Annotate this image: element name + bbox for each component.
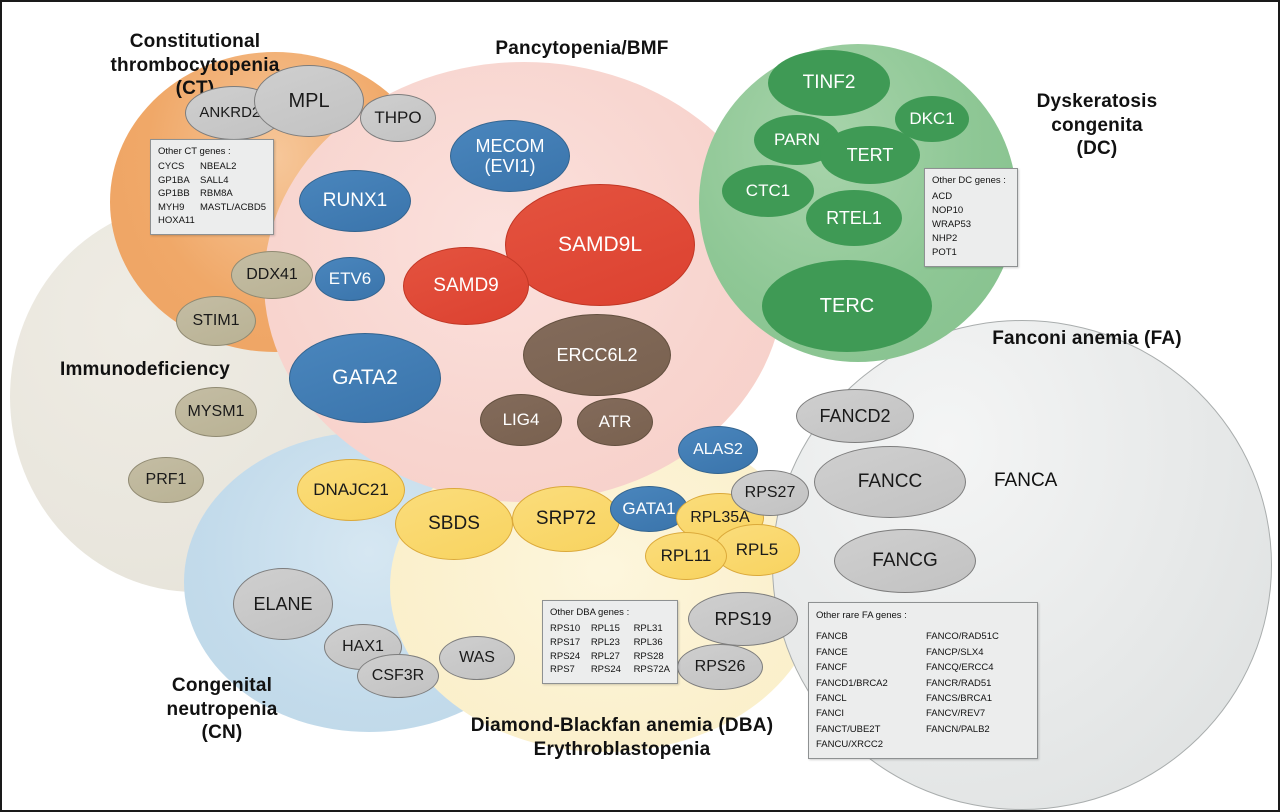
title-dba-line1: Diamond-Blackfan anemia (DBA) bbox=[422, 714, 822, 738]
genebox-ct: Other CT genes : CYCS GP1BA GP1BB MYH9 H… bbox=[150, 139, 274, 235]
genebox-fa-col-1: FANCO/RAD51C FANCP/SLX4 FANCQ/ERCC4 FANC… bbox=[926, 629, 999, 752]
gene-samd9[interactable]: SAMD9 bbox=[403, 247, 529, 325]
gene-prf1[interactable]: PRF1 bbox=[128, 457, 204, 503]
title-congenital-neutropenia: Congenital neutropenia (CN) bbox=[112, 674, 332, 745]
title-fanconi-anemia: Fanconi anemia (FA) bbox=[962, 327, 1212, 351]
genebox-ct-col-1: NBEAL2 SALL4 RBM8A MASTL/ACBD5 bbox=[200, 160, 266, 227]
title-dyskeratosis-congenita: Dyskeratosis congenita (DC) bbox=[1002, 90, 1192, 161]
gene-fancd2[interactable]: FANCD2 bbox=[796, 389, 914, 443]
genebox-ct-title: Other CT genes : bbox=[158, 145, 266, 158]
genebox-fa-col-0: FANCB FANCE FANCF FANCD1/BRCA2 FANCL FAN… bbox=[816, 629, 926, 752]
gene-mpl[interactable]: MPL bbox=[254, 65, 364, 137]
gene-thpo[interactable]: THPO bbox=[360, 94, 436, 142]
title-dba-line2: Erythroblastopenia bbox=[422, 738, 822, 762]
gene-rpl11[interactable]: RPL11 bbox=[645, 532, 727, 580]
title-dc-line1: Dyskeratosis bbox=[1002, 90, 1192, 114]
gene-rps27[interactable]: RPS27 bbox=[731, 470, 809, 516]
gene-fanca-label[interactable]: FANCA bbox=[994, 470, 1057, 492]
title-ct-line1: Constitutional bbox=[60, 30, 330, 54]
gene-fancc[interactable]: FANCC bbox=[814, 446, 966, 518]
genebox-dba-col-1: RPL15 RPL23 RPL27 RPS24 bbox=[591, 622, 634, 677]
gene-fancg[interactable]: FANCG bbox=[834, 529, 976, 593]
title-pancytopenia-bmf: Pancytopenia/BMF bbox=[442, 37, 722, 61]
gene-stim1[interactable]: STIM1 bbox=[176, 296, 256, 346]
gene-lig4[interactable]: LIG4 bbox=[480, 394, 562, 446]
gene-ctc1[interactable]: CTC1 bbox=[722, 165, 814, 217]
gene-ercc6l2[interactable]: ERCC6L2 bbox=[523, 314, 671, 396]
genebox-fa-title: Other rare FA genes : bbox=[816, 608, 1030, 623]
gene-etv6[interactable]: ETV6 bbox=[315, 257, 385, 301]
gene-alas2[interactable]: ALAS2 bbox=[678, 426, 758, 474]
gene-rpl5[interactable]: RPL5 bbox=[714, 524, 800, 576]
genebox-dba: Other DBA genes : RPS10 RPS17 RPS24 RPS7… bbox=[542, 600, 678, 684]
gene-mecom-line1: MECOM bbox=[474, 136, 547, 156]
gene-samd9l[interactable]: SAMD9L bbox=[505, 184, 695, 306]
gene-srp72[interactable]: SRP72 bbox=[512, 486, 620, 552]
title-dc-line2: congenita bbox=[1002, 114, 1192, 138]
gene-gata2[interactable]: GATA2 bbox=[289, 333, 441, 423]
figure-canvas: Constitutional thrombocytopenia (CT) Pan… bbox=[0, 0, 1280, 812]
genebox-ct-col-0: CYCS GP1BA GP1BB MYH9 HOXA11 bbox=[158, 160, 200, 227]
title-cn-line2: neutropenia bbox=[112, 698, 332, 722]
gene-runx1[interactable]: RUNX1 bbox=[299, 170, 411, 232]
gene-tinf2[interactable]: TINF2 bbox=[768, 50, 890, 116]
gene-gata1[interactable]: GATA1 bbox=[610, 486, 688, 532]
genebox-dc-col-0: ACD NOP10 WRAP53 NHP2 POT1 bbox=[932, 190, 971, 260]
gene-rps19[interactable]: RPS19 bbox=[688, 592, 798, 646]
gene-terc[interactable]: TERC bbox=[762, 260, 932, 352]
gene-mecom-line2: (EVI1) bbox=[482, 156, 537, 176]
title-cn-line3: (CN) bbox=[112, 721, 332, 745]
gene-sbds[interactable]: SBDS bbox=[395, 488, 513, 560]
gene-elane[interactable]: ELANE bbox=[233, 568, 333, 640]
genebox-dc-title: Other DC genes : bbox=[932, 174, 1010, 188]
genebox-dba-col-0: RPS10 RPS17 RPS24 RPS7 bbox=[550, 622, 591, 677]
genebox-dc: Other DC genes : ACD NOP10 WRAP53 NHP2 P… bbox=[924, 168, 1018, 267]
gene-rps26[interactable]: RPS26 bbox=[677, 644, 763, 690]
genebox-dba-title: Other DBA genes : bbox=[550, 606, 670, 620]
genebox-dba-col-2: RPL31 RPL36 RPS28 RPS72A bbox=[634, 622, 670, 677]
gene-was[interactable]: WAS bbox=[439, 636, 515, 680]
title-diamond-blackfan-anemia: Diamond-Blackfan anemia (DBA) Erythrobla… bbox=[422, 714, 822, 761]
gene-ddx41[interactable]: DDX41 bbox=[231, 251, 313, 299]
title-dc-line3: (DC) bbox=[1002, 137, 1192, 161]
gene-atr[interactable]: ATR bbox=[577, 398, 653, 446]
gene-rtel1[interactable]: RTEL1 bbox=[806, 190, 902, 246]
title-immunodeficiency: Immunodeficiency bbox=[30, 358, 260, 382]
gene-mysm1[interactable]: MYSM1 bbox=[175, 387, 257, 437]
gene-tert[interactable]: TERT bbox=[820, 126, 920, 184]
gene-dnajc21[interactable]: DNAJC21 bbox=[297, 459, 405, 521]
genebox-fa: Other rare FA genes : FANCB FANCE FANCF … bbox=[808, 602, 1038, 759]
gene-mecom-evi1[interactable]: MECOM (EVI1) bbox=[450, 120, 570, 192]
gene-csf3r[interactable]: CSF3R bbox=[357, 654, 439, 698]
title-cn-line1: Congenital bbox=[112, 674, 332, 698]
